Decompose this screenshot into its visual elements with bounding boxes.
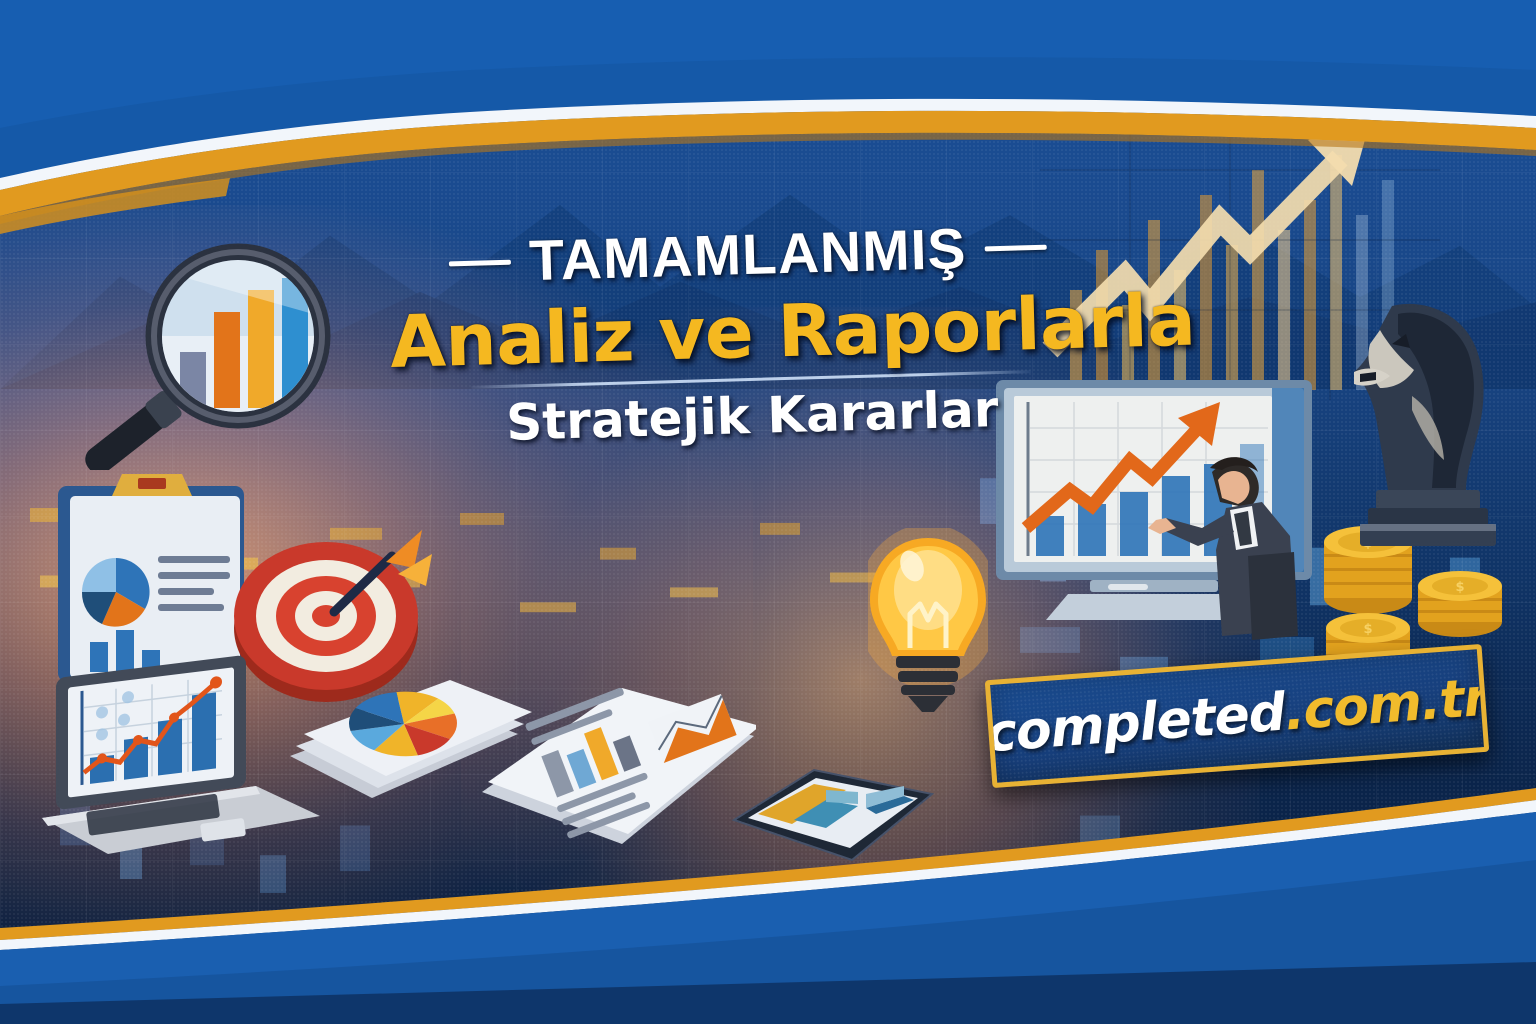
dash-right-icon (984, 244, 1046, 251)
dash-left-icon (449, 259, 511, 266)
headline-line1: TAMAMLANMIŞ (528, 216, 967, 294)
svg-text:$: $ (1455, 580, 1464, 595)
logo-text: completed.com.tr (985, 668, 1490, 765)
magnifying-glass-icon (50, 240, 360, 470)
lightbulb-icon (868, 528, 988, 713)
chess-knight-icon (1336, 300, 1516, 555)
logo-main-text: completed (985, 683, 1287, 765)
laptop-icon (24, 640, 324, 870)
documents-reports-icon (286, 660, 756, 875)
headline-line2: Analiz ve Raporlarla (389, 280, 1111, 384)
logo-tld-text: .com.tr (1283, 668, 1490, 743)
svg-text:$: $ (1363, 622, 1372, 637)
headline-block: TAMAMLANMIŞ Analiz ve Raporlarla Stratej… (387, 212, 1113, 455)
promotional-banner: $ $ $ (0, 0, 1536, 1024)
tablet-icon (728, 748, 938, 873)
